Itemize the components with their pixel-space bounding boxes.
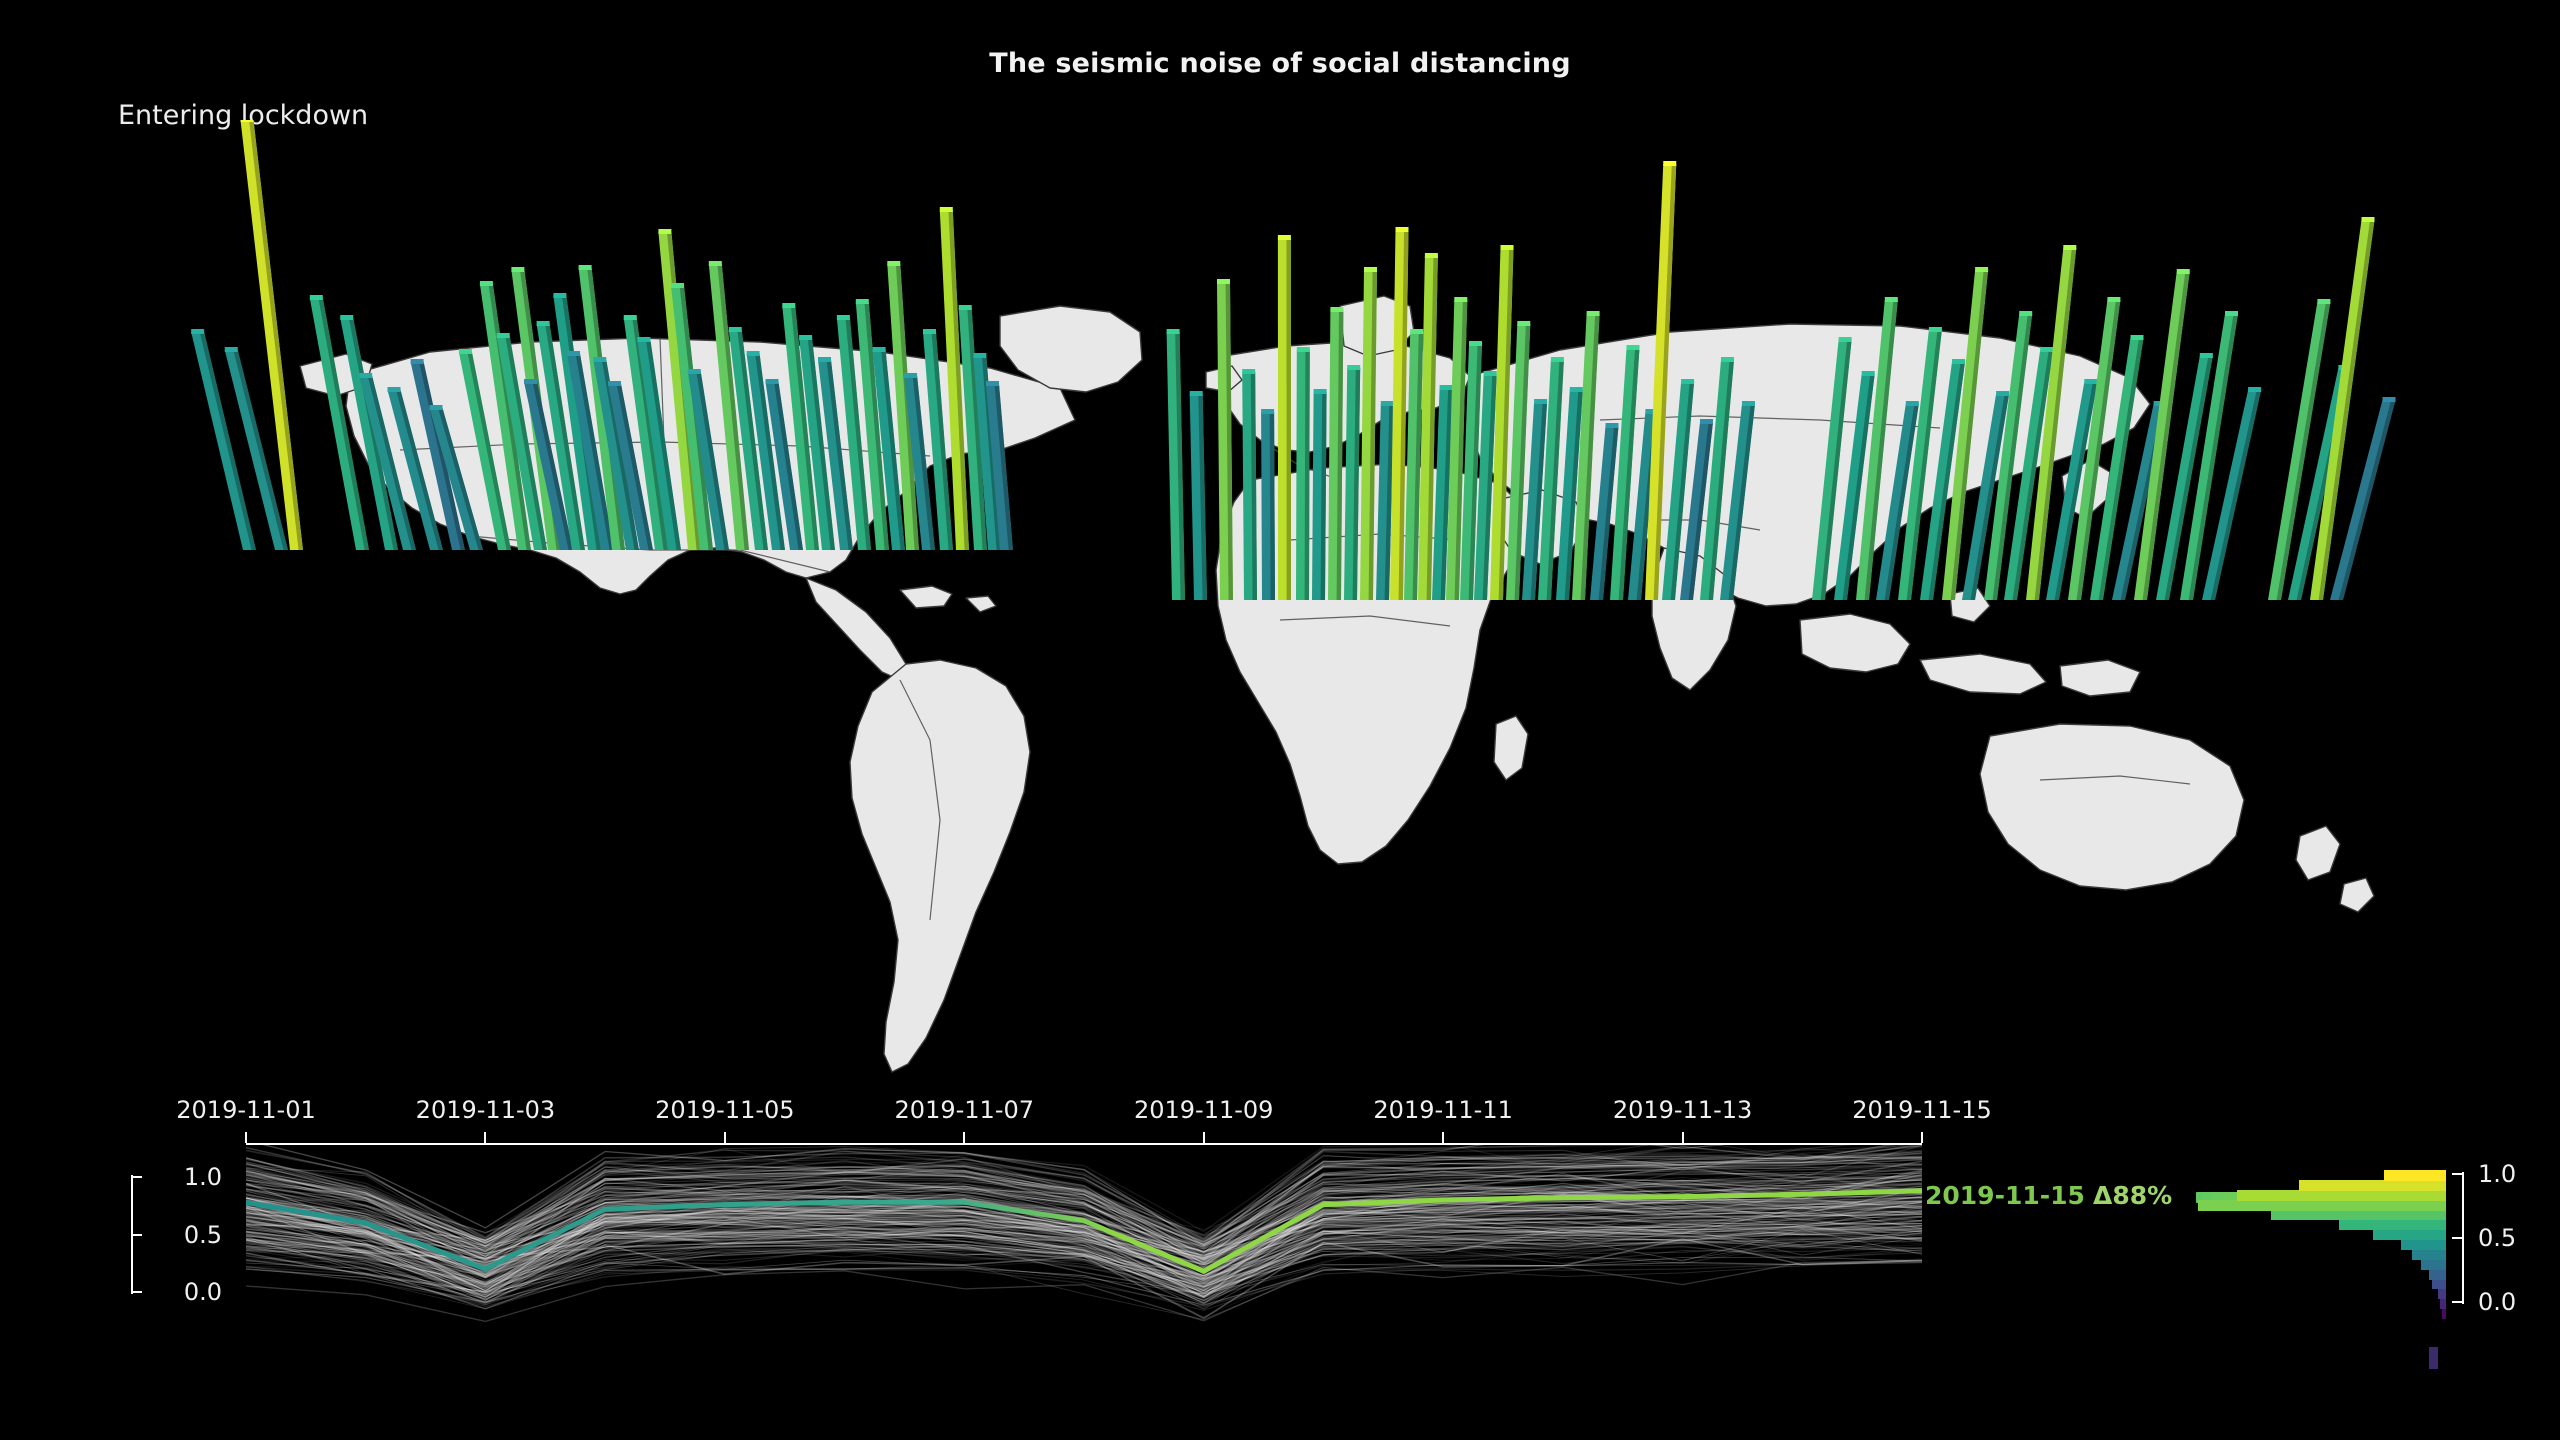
bar-cap [2225,311,2238,316]
bar-cap [191,329,204,334]
bar-cap [480,281,493,286]
bar-cap [1425,253,1438,258]
station-bar [1360,267,1377,600]
bar-cap [1996,391,2009,396]
date-tick-label: 2019-11-05 [655,1096,794,1124]
station-bar [411,359,465,550]
date-tick-mark [245,1132,247,1143]
bar-cap [537,321,550,326]
station-bar [310,295,369,550]
bar-cap [1517,321,1530,326]
bar-cap [2063,245,2076,250]
bar-shadow-face [249,120,303,550]
bar-cap [873,347,886,352]
bar-cap [1551,357,1564,362]
station-bar [1312,389,1327,600]
histogram-bar [2384,1170,2446,1181]
bar-shadow-face [200,332,256,550]
bar-shadow-face [1305,350,1310,600]
y-axis-labels: 1.00.50.0 [60,1145,250,1345]
station-bar [1217,279,1233,600]
bar-cap [671,283,684,288]
bar-cap [1721,357,1734,362]
timeseries-lines [246,1145,1922,1370]
colorbar-tick-mark [2452,1173,2463,1175]
bar-cap [1440,385,1453,390]
bar-cap [1570,387,1583,392]
date-tick-label: 2019-11-01 [176,1096,315,1124]
bar-cap [241,120,254,122]
bar-cap [973,353,986,358]
histogram-bar [2442,1308,2446,1319]
y-tick-label: 0.5 [184,1221,222,1249]
date-tick-label: 2019-11-03 [416,1096,555,1124]
histogram-bar [2401,1239,2446,1250]
y-tick-mark [131,1234,142,1236]
station-bar [191,329,256,550]
bar-cap [524,379,537,384]
bar-cap [1347,365,1360,370]
colorbar-tick-mark [2452,1237,2463,1239]
station-bar [2310,217,2375,600]
station-bar [1296,347,1310,600]
date-tick-mark [1442,1132,1444,1143]
histogram-bar [2432,1278,2446,1289]
bar-cap [959,305,972,310]
bar-cap [1242,369,1255,374]
bar-cap [1839,337,1852,342]
bar-cap [1929,327,1942,332]
date-tick-mark [1682,1132,1684,1143]
bar-cap [497,333,510,338]
bar-cap [411,359,424,364]
bar-cap [709,261,722,266]
bar-cap [782,303,795,308]
page-title: The seismic noise of social distancing [0,48,2560,79]
bar-cap [1587,311,1600,316]
bar-cap [1278,235,1291,240]
station-bar [1190,391,1207,600]
bar-cap [2200,353,2213,358]
histogram-bar [2271,1209,2446,1220]
y-tick-label: 1.0 [184,1163,222,1191]
bar-cap [1663,161,1676,166]
date-tick-label: 2019-11-13 [1613,1096,1752,1124]
date-tick-mark [963,1132,965,1143]
bar-cap [1396,227,1409,232]
bar-cap [986,381,999,386]
colorbar-tick-mark [2452,1301,2463,1303]
bar-cap [553,293,566,298]
bar-cap [2107,297,2120,302]
colorbar-tick-label: 0.0 [2478,1288,2516,1316]
histogram-bar [2440,1298,2446,1309]
bar-cap [1627,345,1640,350]
bar-cap [766,379,779,384]
date-tick-mark [1203,1132,1205,1143]
bar-cap [2084,379,2097,384]
bar-cap [729,327,742,332]
bar-cap [637,337,650,342]
bar-cap [1906,401,1919,406]
bar-cap [1297,347,1310,352]
bar-cap [459,349,472,354]
bar-shadow-face [1286,238,1291,600]
histogram-bar [2421,1259,2446,1270]
bar-cap [340,315,353,320]
bar-cap [511,267,524,272]
histogram-legend [2196,1148,2446,1343]
date-tick-mark [484,1132,486,1143]
bar-cap [1454,297,1467,302]
station-bar [1261,409,1275,600]
histogram-bar [2412,1249,2446,1260]
bar-cap [1410,329,1423,334]
bar-cap [818,357,831,362]
bar-cap [225,347,238,352]
date-tick-label: 2019-11-09 [1134,1096,1273,1124]
bar-cap [1167,329,1180,334]
date-tick-mark [1921,1132,1923,1143]
histogram-bar [2339,1219,2446,1230]
histogram-bar [2237,1190,2446,1201]
y-tick-label: 0.0 [184,1278,222,1306]
histogram-bar [2299,1180,2446,1191]
station-bar [2134,269,2190,600]
colorbar-low-marker [2429,1347,2438,1369]
bar-cap [2248,387,2261,392]
bar-cap [1975,267,1988,272]
date-tick-label: 2019-11-07 [895,1096,1034,1124]
bar-shadow-face [2339,400,2396,600]
bar-cap [567,351,580,356]
bar-cap [2040,347,2053,352]
bar-cap [837,315,850,320]
bar-cap [2131,335,2144,340]
station-bar [340,315,398,550]
histogram-bar [2429,1269,2446,1280]
bar-cap [923,329,936,334]
bar-cap [1190,391,1203,396]
bar-cap [624,315,637,320]
bar-cap [579,265,592,270]
bar-cap [1217,279,1230,284]
timeseries-panel [246,1145,1922,1370]
station-bar [1278,235,1291,600]
station-bar [1328,307,1343,600]
bar-cap [1885,297,1898,302]
bar-cap [747,351,760,356]
date-tick-label: 2019-11-11 [1373,1096,1512,1124]
bar-cap [856,299,869,304]
bar-cap [388,387,401,392]
bar-cap [1681,379,1694,384]
bar-cap [1261,409,1274,414]
annotation-delta: Δ88% [2093,1181,2172,1210]
colorbar-tick-label: 1.0 [2478,1160,2516,1188]
bar-cap [940,207,953,212]
histogram-bar [2373,1229,2446,1240]
y-tick-mark [131,1291,142,1293]
bar-cap [1364,267,1377,272]
bar-cap [430,405,443,410]
bar-cap [310,295,323,300]
bar-cap [1952,359,1965,364]
bar-cap [1700,419,1713,424]
bar-cap [1501,245,1514,250]
station-bar [1242,369,1257,600]
bar-cap [1606,423,1619,428]
y-tick-mark [131,1176,142,1178]
date-tick-label: 2019-11-15 [1852,1096,1991,1124]
bar-cap [1330,307,1343,312]
bar-cap [887,261,900,266]
world-map-panel [0,120,2560,1110]
bar-cap [1469,341,1482,346]
bar-cap [2317,299,2330,304]
visualization-root: The seismic noise of social distancing E… [0,0,2560,1440]
bar-cap [359,373,372,378]
bar-cap [1862,371,1875,376]
bar-cap [1484,371,1497,376]
bar-cap [2177,269,2190,274]
bar-cap [688,369,701,374]
bar-cap [1534,399,1547,404]
bar-cap [1314,389,1327,394]
histogram-bar [2198,1200,2446,1211]
bar-cap [2362,217,2375,222]
bar-cap [2019,311,2032,316]
date-tick-mark [724,1132,726,1143]
bar-cap [904,373,917,378]
bar-cap [593,357,606,362]
station-bars [0,120,2560,1110]
annotation-date: 2019-11-15 [1925,1181,2085,1210]
station-bar [1167,329,1185,600]
bar-shadow-face [1270,412,1275,600]
bar-cap [658,229,671,234]
bar-cap [2383,397,2396,402]
bar-cap [1742,401,1755,406]
colorbar-tick-label: 0.5 [2478,1224,2516,1252]
histogram-bar [2438,1288,2446,1299]
bar-cap [608,381,621,386]
bar-cap [799,335,812,340]
station-bar [1344,365,1360,600]
bar-cap [1381,401,1394,406]
